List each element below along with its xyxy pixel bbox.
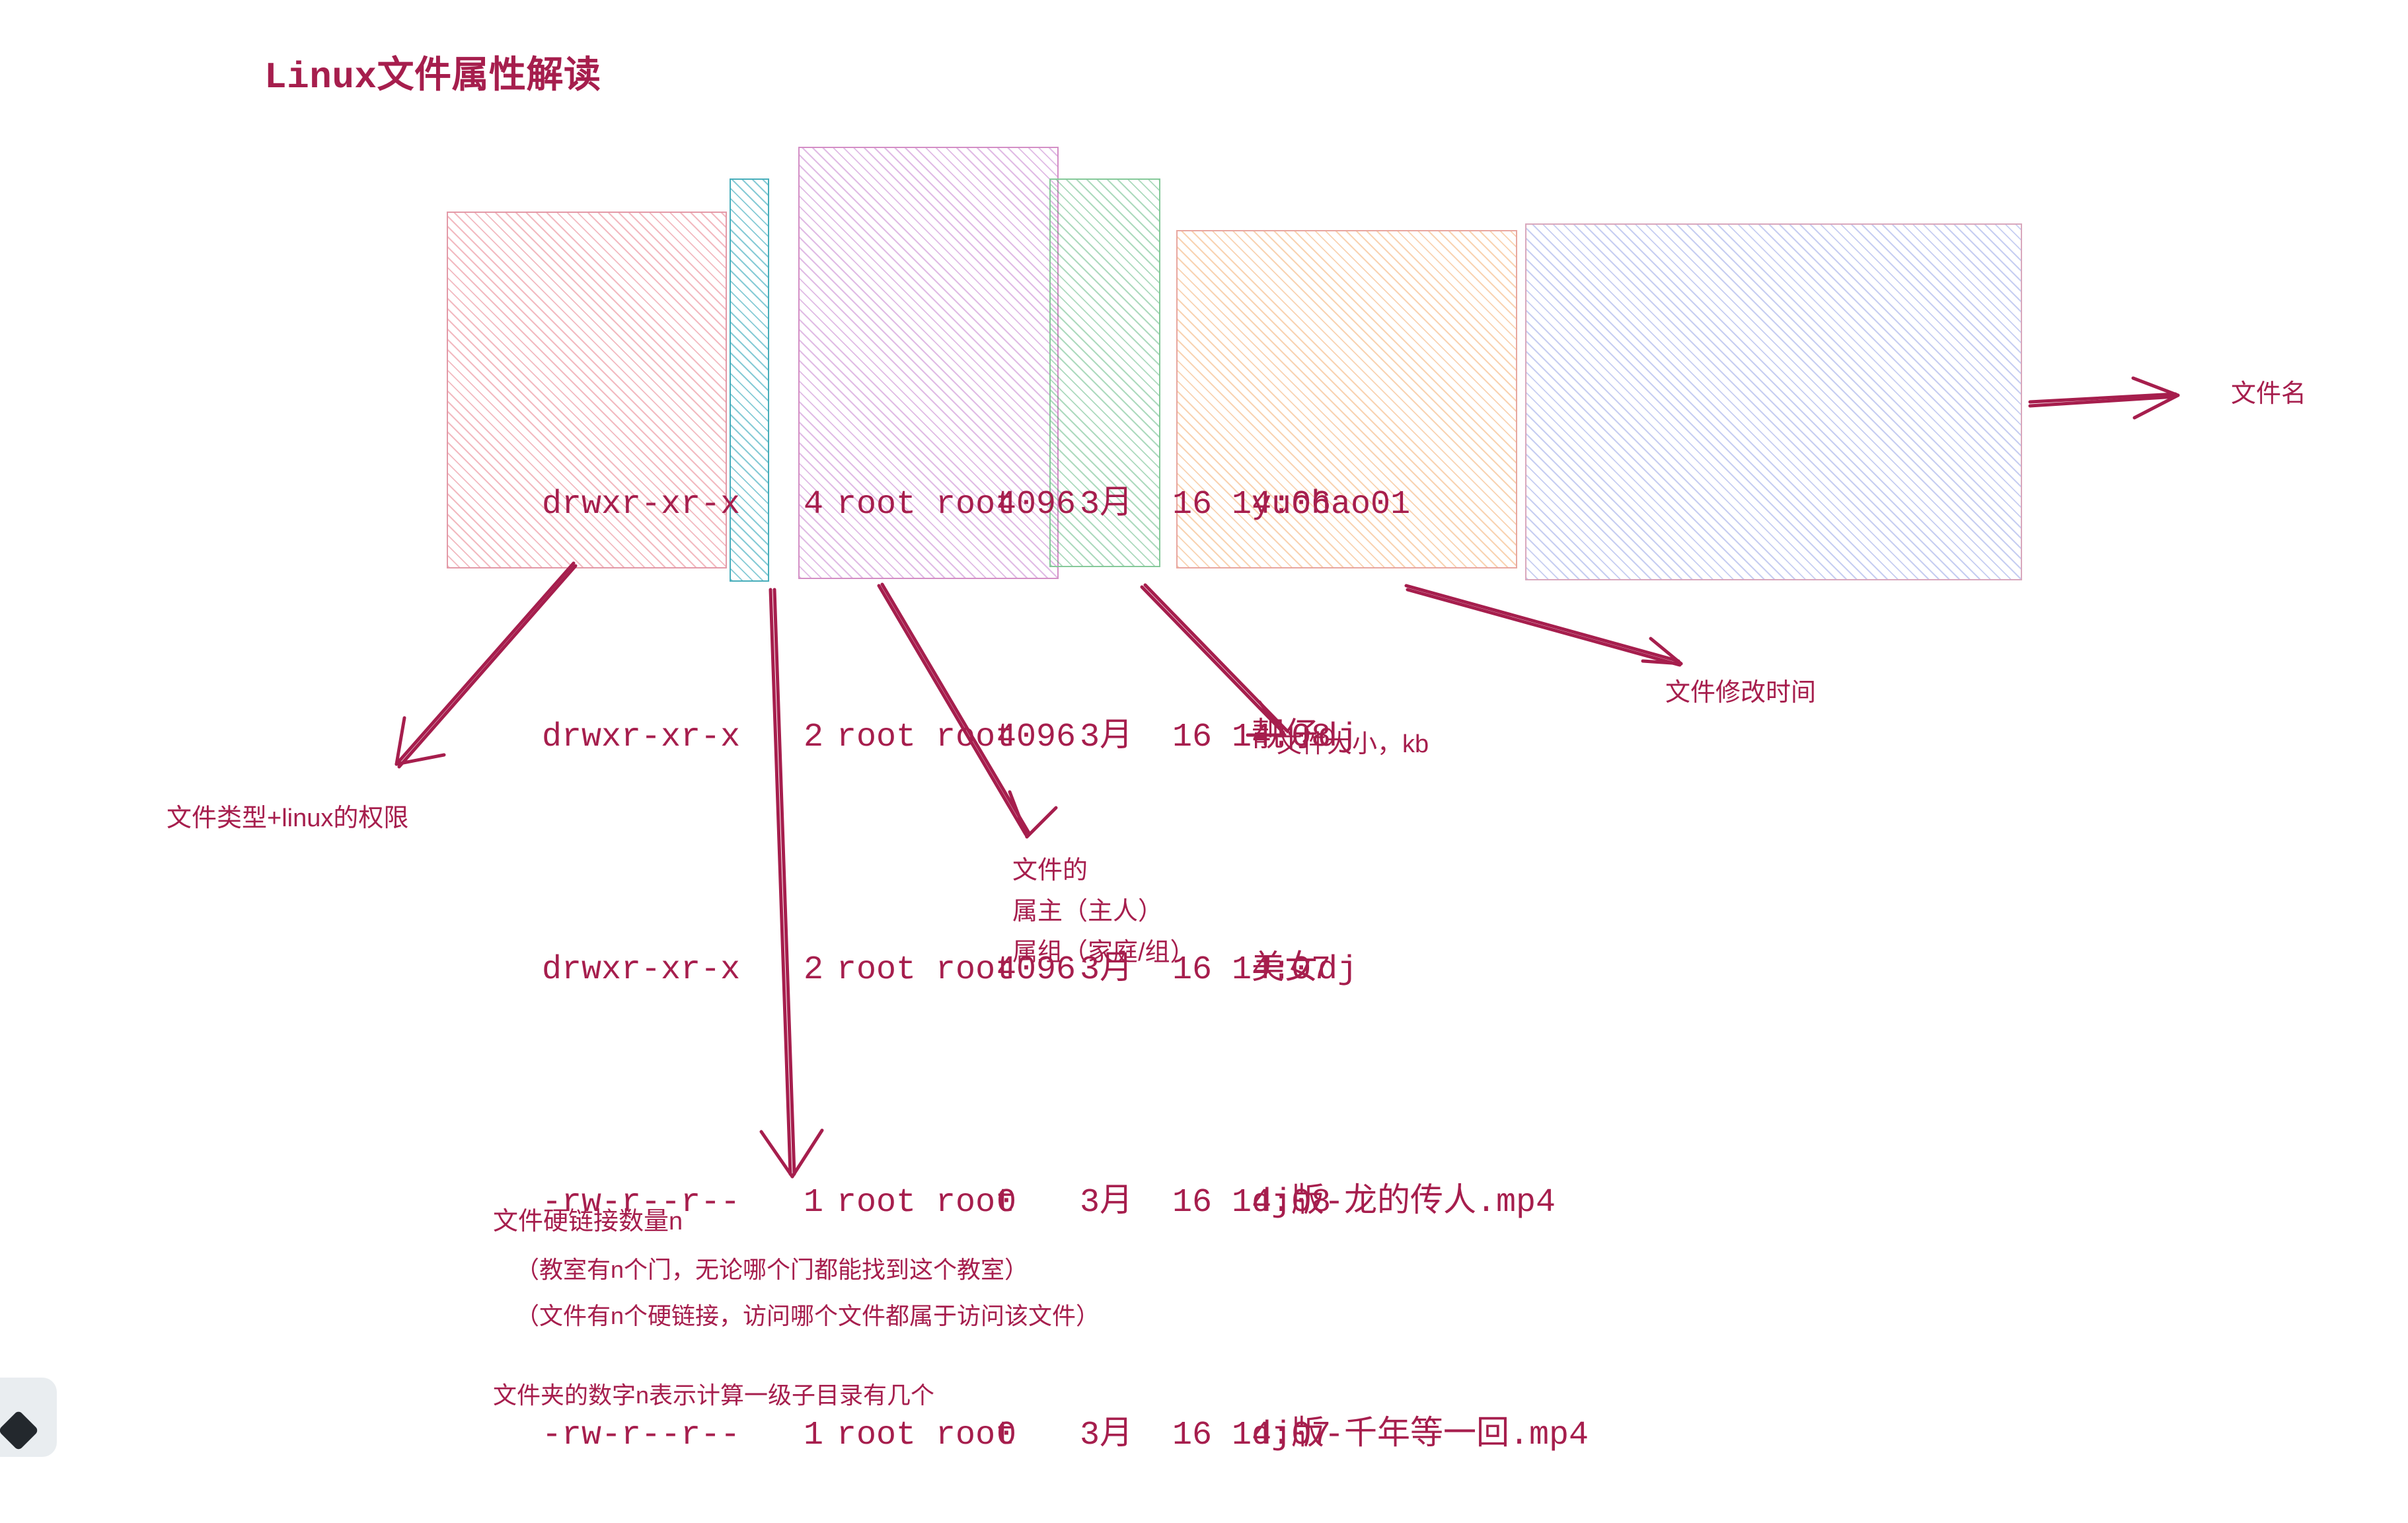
cell-permissions: drwxr-xr-x (542, 476, 804, 534)
cell-link-count: 2 (804, 709, 837, 767)
annotation-mtime: 文件修改时间 (1665, 676, 1816, 710)
cell-filename: dj版-千年等一回.mp4 (1252, 1407, 1589, 1465)
arrow-filename (2030, 378, 2178, 418)
annotation-size: 文件大小，kb (1277, 727, 1429, 761)
annotation-filename: 文件名 (2231, 377, 2306, 411)
cell-link-count: 4 (804, 476, 837, 534)
listing-row: drwxr-xr-x2root root40963月 16 14:08靓仔dj (463, 650, 1589, 709)
cell-mtime: 3月 16 14:08 (1080, 1174, 1252, 1232)
annotation-hardlink-line3: 文件夹的数字n表示计算一级子目录有几个 (493, 1379, 934, 1412)
cell-owner-group: root root (837, 1407, 997, 1465)
page-title: Linux文件属性解读 (264, 45, 601, 98)
cell-owner-group: root root (837, 476, 997, 534)
cell-filename: 美女dj (1252, 941, 1357, 999)
cell-link-count: 1 (804, 1407, 837, 1465)
listing-row: -rw-r--r--1root root03月 16 14:08dj版-龙的传人… (463, 1116, 1589, 1174)
cell-owner-group: root root (837, 941, 997, 999)
cell-mtime: 3月 16 14:08 (1080, 709, 1252, 767)
cell-size: 0 (997, 1407, 1080, 1465)
cell-size: 4096 (997, 709, 1080, 767)
cell-link-count: 2 (804, 941, 837, 999)
cell-filename: yuchao01 (1252, 476, 1410, 534)
cell-filename: dj版-龙的传人.mp4 (1252, 1174, 1556, 1232)
cell-size: 4096 (997, 476, 1080, 534)
highlight-filename (1525, 223, 2022, 580)
annotation-owner-group: 文件的 属主（主人） 属组（家庭/组） (1012, 850, 1195, 973)
annotation-hardlink-line2: （文件有n个硬链接，访问哪个文件都属于访问该文件） (515, 1300, 1100, 1333)
annotation-hardlink-line1: （教室有n个门，无论哪个门都能找到这个教室） (515, 1253, 1028, 1286)
cell-mtime: 3月 16 14:06 (1080, 476, 1252, 534)
listing-row: drwxr-xr-x4root root40963月 16 14:06yucha… (463, 418, 1589, 476)
cell-permissions: -rw-r--r-- (542, 1407, 804, 1465)
shape-tool-button[interactable] (0, 1378, 57, 1457)
cell-permissions: drwxr-xr-x (542, 941, 804, 999)
cell-link-count: 1 (804, 1174, 837, 1232)
shape-tool-icon (0, 1410, 39, 1451)
cell-size: 0 (997, 1174, 1080, 1232)
cell-owner-group: root root (837, 709, 997, 767)
annotation-permissions: 文件类型+linux的权限 (167, 801, 408, 836)
cell-mtime: 3月 16 14:07 (1080, 1407, 1252, 1465)
cell-permissions: drwxr-xr-x (542, 709, 804, 767)
cell-owner-group: root root (837, 1174, 997, 1232)
annotation-hardlink-title: 文件硬链接数量n (493, 1204, 683, 1239)
